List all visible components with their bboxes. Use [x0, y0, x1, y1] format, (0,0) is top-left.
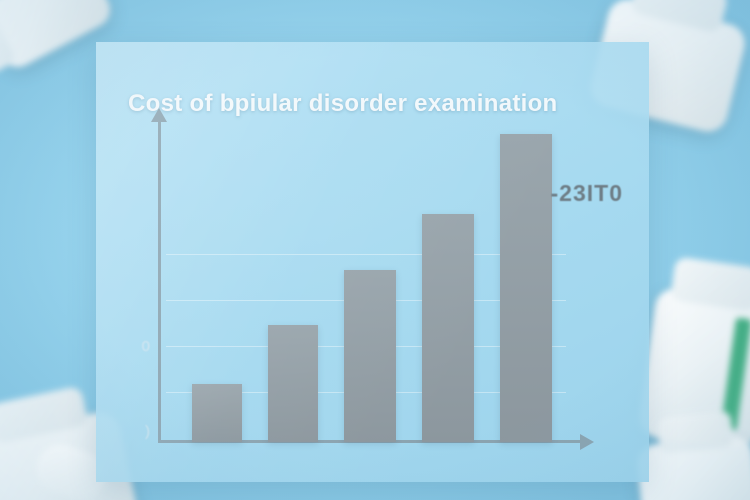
y-tick-label-0: 0 [120, 338, 150, 355]
y-axis-arrow-icon [151, 108, 167, 122]
bar-2 [268, 325, 318, 442]
bar-4 [422, 214, 474, 442]
bar-1 [192, 384, 242, 442]
chart-card: Cost of bpiular disorder examination 0 )… [96, 42, 649, 482]
scene-root: Cost of bpiular disorder examination 0 )… [0, 0, 750, 500]
y-axis [158, 120, 161, 442]
bar-5 [500, 134, 552, 442]
bar-3 [344, 270, 396, 442]
x-axis-arrow-icon [580, 434, 594, 450]
y-tick-label-1: ) [120, 423, 150, 440]
bottle-cap [657, 410, 734, 454]
peak-value-label: -23IT0 [551, 180, 623, 207]
chart-plot-area: 0 ) -23IT0 [96, 42, 649, 482]
